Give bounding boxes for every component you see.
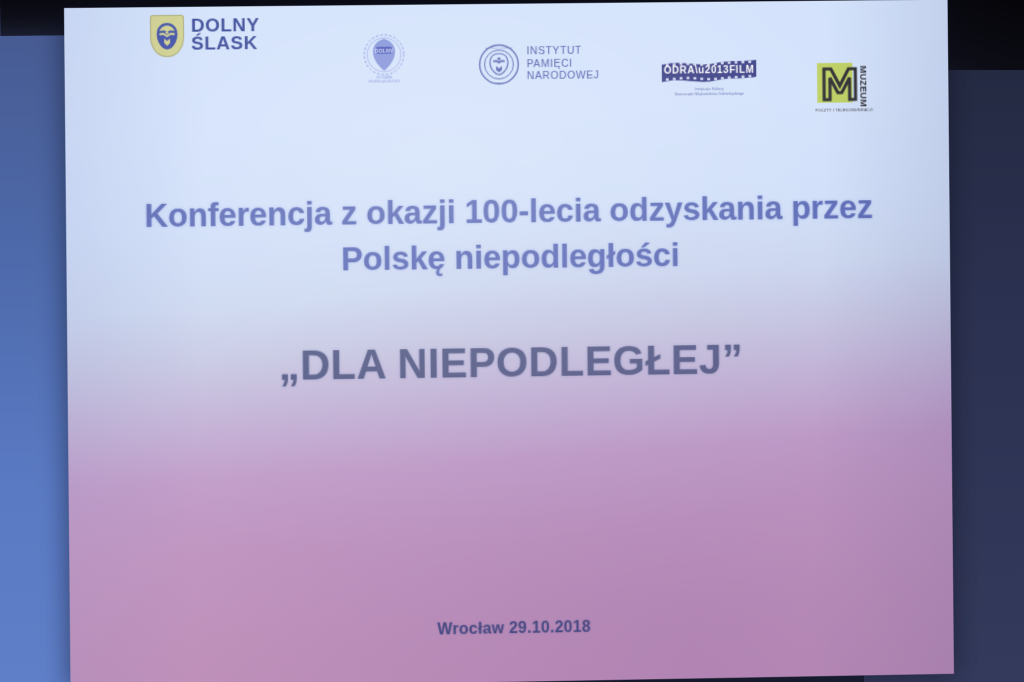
dolny-slask-wordmark: DOLNY ŚLASK (191, 17, 260, 54)
dolny-slask-shield-icon (150, 15, 184, 57)
svg-text:WOJEW\u00D3DZTWO: WOJEW\u00D3DZTWO (368, 79, 400, 83)
slide-headline: Konferencja z okazji 100-lecia odzyskani… (66, 183, 950, 286)
circular-emblem-icon: DOLNY SOLIDARNI WOJEW\u00D3DZTWO (361, 31, 407, 85)
logo-odra-film: ODRA\u2013FILM Instytucja Kultury Samorz… (660, 57, 759, 98)
slide-content: DOLNY ŚLASK DOLNY SOLIDARNI WOJEW\u00D3D… (64, 0, 954, 682)
logo-ipn: INSTYTUT PAMI\u0118CI NARODOWEJ INSTYTUT… (478, 43, 600, 86)
screenshot-stage: DOLNY ŚLASK DOLNY SOLIDARNI WOJEW\u00D3D… (0, 0, 1024, 682)
slide-subtitle: „DLA NIEPODLEGŁEJ” (67, 332, 951, 394)
svg-text:DOLNY: DOLNY (375, 48, 394, 54)
logo-dolny-slask: DOLNY ŚLASK (150, 14, 260, 57)
headline-line-1: Konferencja z okazji 100-lecia odzyskani… (144, 188, 873, 234)
logo-stowarzyszenie: DOLNY SOLIDARNI WOJEW\u00D3DZTWO (361, 31, 407, 85)
svg-text:INSTYTUT PAMI\u0118CI: INSTYTUT PAMI\u0118CI (485, 46, 514, 49)
ipn-line1: INSTYTUT (526, 45, 599, 58)
slide-footer-date: Wrocław 29.10.2018 (70, 612, 954, 645)
sponsor-logo-strip: DOLNY ŚLASK DOLNY SOLIDARNI WOJEW\u00D3D… (64, 0, 949, 158)
muzeum-mark-icon: MUZEUM (815, 60, 868, 108)
ipn-wordmark: INSTYTUT PAMIĘCI NARODOWEJ (526, 45, 599, 83)
dolny-slask-word-line2: ŚLASK (191, 35, 260, 54)
ipn-line3: NARODOWEJ (527, 70, 600, 83)
svg-text:ODRA\u2013FILM: ODRA\u2013FILM (664, 65, 755, 77)
ipn-line2: PAMIĘCI (527, 57, 600, 70)
muzeum-subtitle: POCZTY I TELEKOMUNIKACJI (815, 108, 873, 114)
svg-text:NARODOWEJ: NARODOWEJ (491, 81, 508, 84)
ipn-seal-icon: INSTYTUT PAMI\u0118CI NARODOWEJ (478, 43, 520, 85)
silesian-eagle-icon (153, 21, 181, 51)
odra-film-band-icon: ODRA\u2013FILM (660, 57, 759, 85)
headline-line-2: Polskę niepodległości (110, 229, 907, 285)
projection-screen: DOLNY ŚLASK DOLNY SOLIDARNI WOJEW\u00D3D… (64, 0, 954, 682)
logo-muzeum: MUZEUM POCZTY I TELEKOMUNIKACJI (815, 60, 873, 114)
odra-film-sub-line2: Samorządu Województwa Dolnośląskiego (675, 92, 744, 98)
odra-film-subtitle: Instytucja Kultury Samorządu Województwa… (675, 87, 744, 98)
svg-text:MUZEUM: MUZEUM (858, 66, 868, 108)
